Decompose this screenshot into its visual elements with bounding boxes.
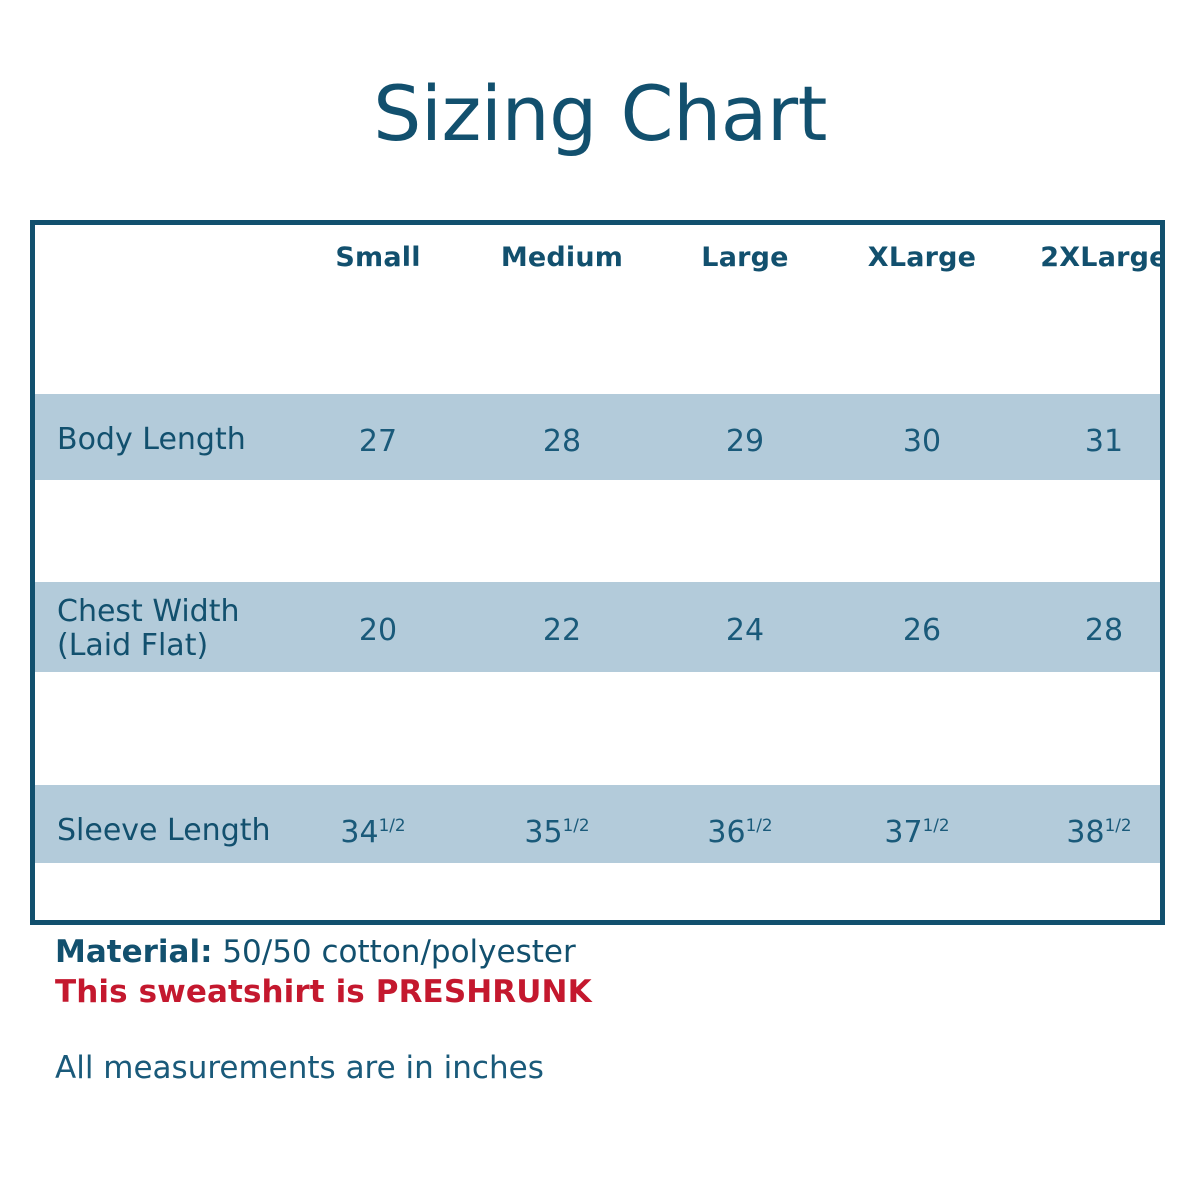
column-header-2xlarge: 2XLarge (1014, 242, 1160, 273)
sizing-table-inner: Small Medium Large XLarge 2XLarge Body L… (35, 225, 1160, 920)
cell-sleeve-length-small: 341/2 (283, 815, 463, 850)
row-label-chest-width: Chest Width (Laid Flat) (57, 595, 240, 662)
cell-body-length-small: 27 (288, 424, 468, 459)
row-label-sleeve-length: Sleeve Length (57, 814, 271, 848)
cell-chest-width-medium: 22 (472, 613, 652, 648)
column-header-large: Large (655, 242, 835, 273)
footer-preshrunk-line: This sweatshirt is PRESHRUNK (55, 973, 1145, 1013)
cell-chest-width-xlarge: 26 (832, 613, 1012, 648)
cell-sleeve-length-medium: 351/2 (467, 815, 647, 850)
cell-chest-width-small: 20 (288, 613, 468, 648)
footer-material-line: Material: 50/50 cotton/polyester (55, 933, 1145, 973)
cell-body-length-large: 29 (655, 424, 835, 459)
table-header-row: Small Medium Large XLarge 2XLarge (35, 225, 1160, 315)
footer-material-value: 50/50 cotton/polyester (212, 934, 575, 970)
sizing-table: Small Medium Large XLarge 2XLarge Body L… (30, 220, 1165, 925)
cell-body-length-medium: 28 (472, 424, 652, 459)
sizing-chart-page: Sizing Chart Small Medium Large XLarge 2… (0, 0, 1200, 1200)
cell-sleeve-length-large: 361/2 (650, 815, 830, 850)
page-title: Sizing Chart (0, 76, 1200, 152)
footer: Material: 50/50 cotton/polyester This sw… (55, 933, 1145, 1086)
row-label-body-length: Body Length (57, 423, 246, 457)
cell-sleeve-length-xlarge: 371/2 (827, 815, 1007, 850)
column-header-medium: Medium (472, 242, 652, 273)
cell-sleeve-length-2xlarge: 381/2 (1009, 815, 1160, 850)
footer-material-label: Material: (55, 934, 212, 970)
column-header-small: Small (288, 242, 468, 273)
footer-units-note: All measurements are in inches (55, 1050, 1145, 1086)
cell-body-length-xlarge: 30 (832, 424, 1012, 459)
cell-chest-width-large: 24 (655, 613, 835, 648)
cell-body-length-2xlarge: 31 (1014, 424, 1160, 459)
cell-chest-width-2xlarge: 28 (1014, 613, 1160, 648)
column-header-xlarge: XLarge (832, 242, 1012, 273)
